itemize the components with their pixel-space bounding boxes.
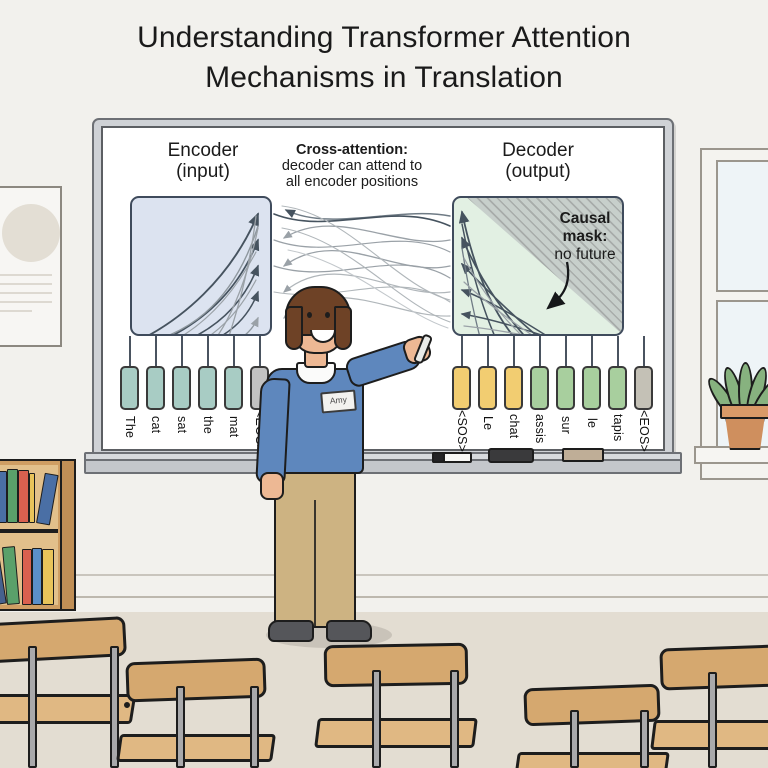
decoder-token-1[interactable]: [478, 366, 497, 410]
presenter-arm-left: [255, 377, 291, 484]
encoder-token-label-0: The: [123, 416, 137, 438]
presenter-shoe-left: [268, 620, 314, 642]
encoder-token-0[interactable]: [120, 366, 139, 410]
decoder-token-label-1: Le: [481, 416, 495, 430]
encoder-token-label-3: the: [201, 416, 215, 434]
name-badge: Amy: [320, 390, 357, 414]
decoder-token-2[interactable]: [504, 366, 523, 410]
encoder-token-label-1: cat: [149, 416, 163, 433]
decoder-token-label-3: assis: [533, 414, 547, 443]
causal-mask-arrow: [548, 262, 568, 308]
presenter-hair-side-left: [285, 306, 303, 350]
decoder-token-label-0: <SOS>: [455, 410, 469, 452]
encoder-token-label-2: sat: [175, 416, 189, 433]
decoder-token-3[interactable]: [530, 366, 549, 410]
presenter-eye-right: [325, 312, 330, 318]
presenter-hair-side-right: [334, 306, 352, 350]
presenter-shoe-right: [326, 620, 372, 642]
decoder-token-0[interactable]: [452, 366, 471, 410]
decoder-token-label-6: tapis: [611, 414, 625, 441]
classroom-scene: Understanding Transformer Attention Mech…: [0, 0, 768, 768]
tan-eraser[interactable]: [562, 448, 604, 462]
decoder-token-label-5: le: [585, 418, 599, 428]
decoder-token-label-2: chat: [507, 414, 521, 438]
presenter-hand-left: [260, 472, 284, 500]
encoder-token-2[interactable]: [172, 366, 191, 410]
encoder-token-4[interactable]: [224, 366, 243, 410]
encoder-token-1[interactable]: [146, 366, 165, 410]
encoder-token-label-4: mat: [227, 416, 241, 437]
encoder-token-3[interactable]: [198, 366, 217, 410]
presenter-eye-left: [307, 312, 312, 318]
decoder-token-5[interactable]: [582, 366, 601, 410]
pants-seam: [314, 500, 316, 628]
decoder-token-label-7: <EOS>: [637, 410, 651, 452]
decoder-token-4[interactable]: [556, 366, 575, 410]
decoder-token-label-4: sur: [559, 416, 573, 434]
decoder-token-6[interactable]: [608, 366, 627, 410]
decoder-token-7[interactable]: [634, 366, 653, 410]
black-eraser[interactable]: [488, 448, 534, 463]
marker-cap: [432, 452, 445, 463]
